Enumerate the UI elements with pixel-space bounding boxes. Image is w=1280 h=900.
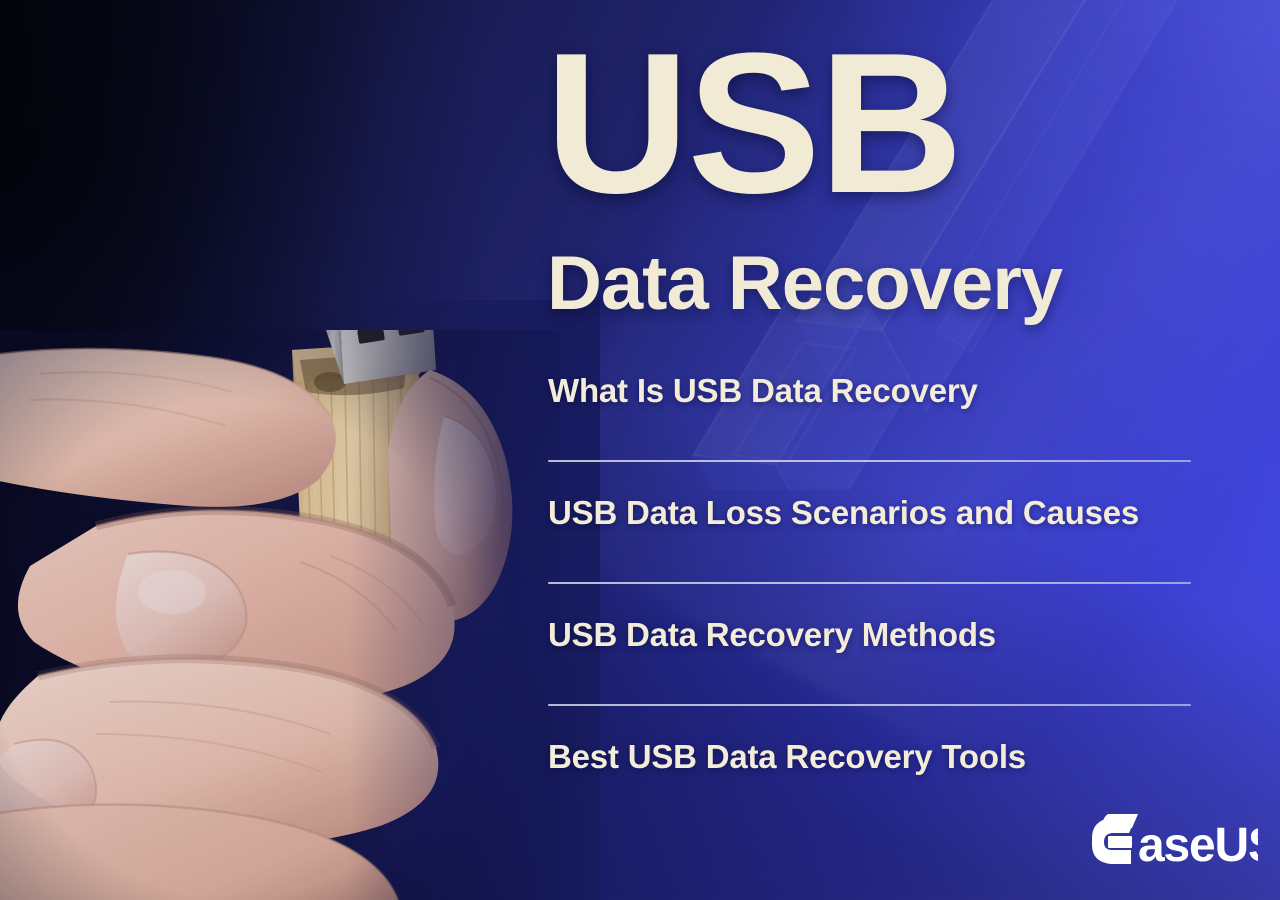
toc-item-label: What Is USB Data Recovery: [548, 372, 978, 410]
content-column: USB Data Recovery What Is USB Data Recov…: [545, 0, 1245, 900]
page-title: USB: [545, 38, 961, 210]
list-item[interactable]: USB Data Recovery Methods: [548, 616, 1193, 738]
list-item[interactable]: What Is USB Data Recovery: [548, 372, 1193, 494]
divider: [548, 582, 1191, 584]
toc-item-label: USB Data Recovery Methods: [548, 616, 996, 654]
divider: [548, 460, 1191, 462]
easeus-logo[interactable]: aseUS: [1086, 812, 1258, 874]
logo-wordmark-text: aseUS: [1138, 819, 1258, 872]
toc-item-label: USB Data Loss Scenarios and Causes: [548, 494, 1139, 532]
divider: [548, 704, 1191, 706]
toc-item-label: Best USB Data Recovery Tools: [548, 738, 1026, 776]
table-of-contents-list: What Is USB Data Recovery USB Data Loss …: [548, 372, 1193, 860]
poster-canvas: USB Data Recovery What Is USB Data Recov…: [0, 0, 1280, 900]
page-subtitle: Data Recovery: [547, 246, 1062, 322]
list-item[interactable]: USB Data Loss Scenarios and Causes: [548, 494, 1193, 616]
